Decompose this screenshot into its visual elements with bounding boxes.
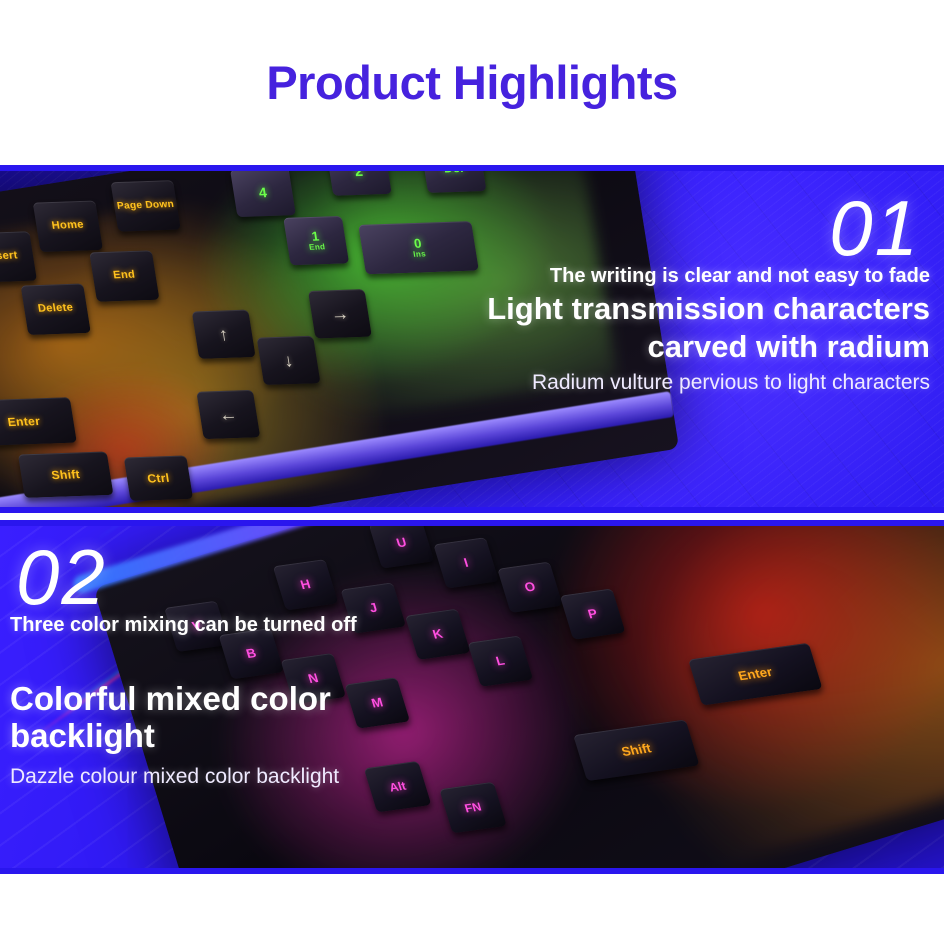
footer-whitespace	[0, 874, 944, 938]
highlight-panel-02: V B N M H J K L U I O P Alt FN F9 F10 F1…	[0, 520, 944, 874]
keycap-arrow-right: →	[308, 289, 372, 338]
panel-01-copy: 01 The writing is clear and not easy to …	[416, 171, 936, 507]
keycap-shift: Shift	[18, 451, 113, 498]
panel-02-subline: Dazzle colour mixed color backlight	[10, 765, 470, 789]
panel-02-eyebrow: Three color mixing can be turned off	[10, 614, 470, 637]
keycap-arrow-down: ↓	[257, 336, 321, 385]
keycap-numpad-2: 2	[326, 165, 392, 196]
keycap-end: End	[89, 250, 159, 302]
keycap-numpad-1-end: 1 End	[283, 216, 349, 265]
keycap-delete: Delete	[21, 283, 91, 335]
panel-01-headline-line2: carved with radium	[647, 330, 930, 365]
panel-divider	[0, 513, 944, 520]
panel-01-subline: Radium vulture pervious to light charact…	[532, 371, 930, 395]
keycap-numpad-1-primary: 1	[311, 230, 321, 244]
page-title: Product Highlights	[266, 59, 677, 106]
keycap-ctrl: Ctrl	[124, 455, 193, 501]
panel-02-number: 02	[16, 542, 470, 614]
panel-02-copy: 02 Three color mixing can be turned off …	[0, 526, 470, 868]
keycap-enter: Enter	[0, 397, 77, 446]
keycap-page-down: Page Down	[111, 180, 181, 232]
light-streak-pink-1	[175, 520, 615, 521]
panel-01-eyebrow: The writing is clear and not easy to fad…	[550, 265, 930, 288]
light-streak-blue-1	[119, 520, 575, 521]
panel-02-headline-line1: Colorful mixed color backlight	[10, 681, 470, 755]
panel-01-number: 01	[829, 193, 920, 265]
keycap-arrow-left: ←	[196, 390, 260, 439]
keycap-numpad-1-secondary: End	[309, 243, 326, 252]
keycap-arrow-up: ↑	[192, 310, 256, 359]
panel-01-headline-line1: Light transmission characters	[487, 292, 930, 327]
highlight-panel-01: Insert Home Page Down Delete End Enter S…	[0, 165, 944, 513]
keycap-numpad-4: 4	[230, 168, 296, 217]
page-title-bar: Product Highlights	[0, 0, 944, 165]
keycap-home: Home	[33, 201, 103, 253]
